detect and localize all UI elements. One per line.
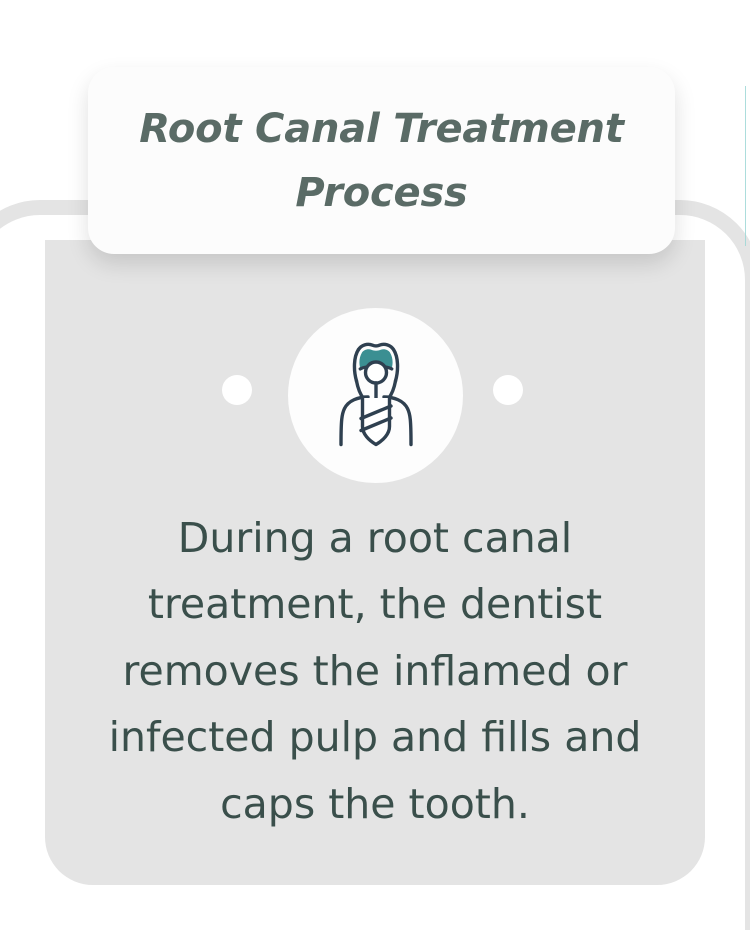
indicator-dot-left bbox=[222, 375, 252, 405]
card-body-text: During a root canal treatment, the denti… bbox=[85, 505, 665, 837]
teal-hairline-decoration bbox=[745, 86, 746, 246]
page-title: Root Canal Treatment Process bbox=[88, 97, 675, 225]
icon-row bbox=[45, 308, 705, 488]
card-header-pill: Root Canal Treatment Process bbox=[88, 67, 675, 254]
icon-badge bbox=[288, 308, 463, 483]
screen-root: Root Canal Treatment Process bbox=[0, 0, 750, 930]
root-canal-tooth-icon bbox=[324, 340, 428, 452]
indicator-dot-right bbox=[493, 375, 523, 405]
